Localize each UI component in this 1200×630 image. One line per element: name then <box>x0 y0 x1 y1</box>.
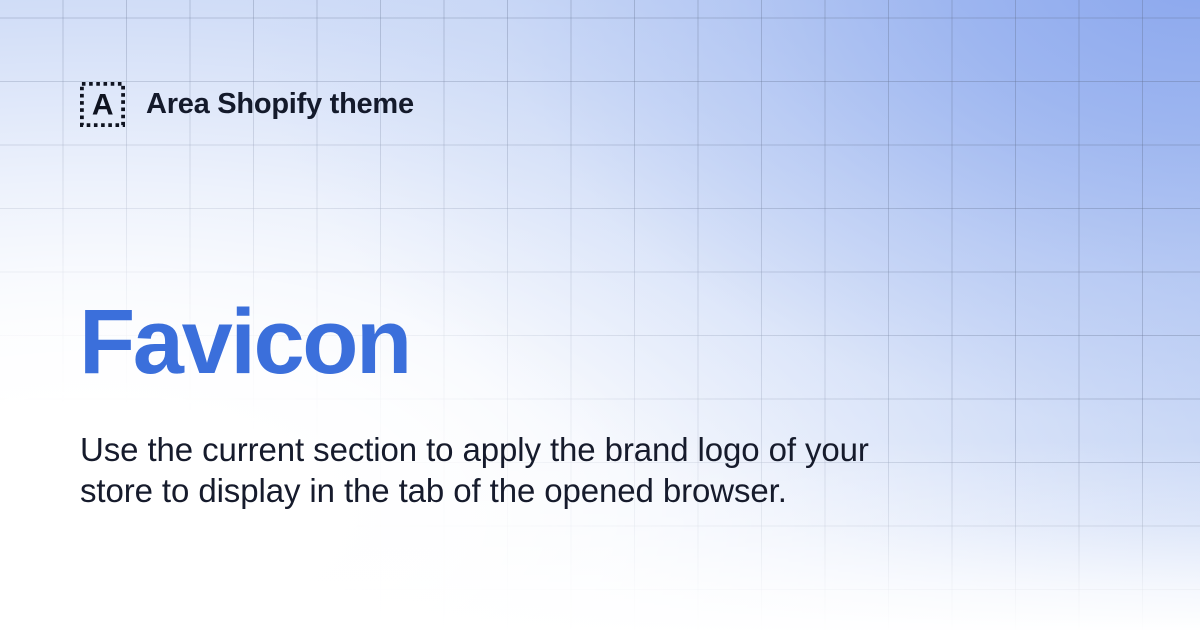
dotted-square-letter-a-icon: A <box>80 82 125 127</box>
brand-name: Area Shopify theme <box>146 90 414 119</box>
brand-mark-letter: A <box>92 90 113 120</box>
promo-banner: A Area Shopify theme Favicon Use the cur… <box>0 0 1200 630</box>
brand-lockup: A Area Shopify theme <box>80 82 414 127</box>
page-description: Use the current section to apply the bra… <box>80 429 870 511</box>
page-title: Favicon <box>79 296 410 388</box>
banner-content: A Area Shopify theme Favicon Use the cur… <box>0 0 1200 630</box>
